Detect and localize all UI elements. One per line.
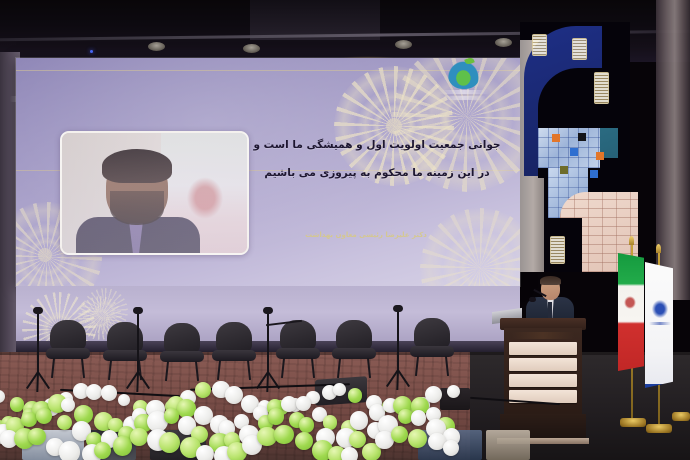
microphone-stand xyxy=(118,312,158,392)
flag-stand-base xyxy=(646,424,672,433)
organization-flag-text xyxy=(649,322,671,325)
ceiling-spotlight xyxy=(243,44,260,53)
podium-crest-text xyxy=(512,332,574,339)
microphone-stand xyxy=(378,310,418,390)
balloon xyxy=(443,440,459,456)
podium-panel xyxy=(509,374,577,387)
balloon xyxy=(268,408,285,425)
tile-accent-square xyxy=(596,152,604,160)
balloon xyxy=(295,432,313,450)
balloon xyxy=(177,399,196,418)
stage-curtain xyxy=(656,0,690,300)
balloon xyxy=(350,411,368,429)
presenter-hair xyxy=(540,276,561,285)
speaker-podium xyxy=(500,318,586,446)
balloon xyxy=(130,428,148,446)
flagpole-finial xyxy=(656,244,661,253)
balloon xyxy=(164,408,179,423)
arch-mosaic-tiles xyxy=(538,128,600,168)
balloon xyxy=(447,385,461,399)
tile-accent-square xyxy=(560,166,568,174)
balloon xyxy=(61,398,75,412)
arch-ornament-tile xyxy=(550,236,565,264)
mandala-core xyxy=(38,248,52,262)
flagpole-finial xyxy=(629,236,634,245)
organization-flag-emblem xyxy=(652,300,668,318)
slide-logo-line2 xyxy=(442,96,486,100)
arch-ornament-tile xyxy=(594,72,609,104)
floor-poster xyxy=(486,430,530,460)
microphone-stand xyxy=(248,312,288,392)
balloon xyxy=(333,383,346,396)
slide-logo-line1 xyxy=(439,90,489,94)
slide-headline-line1: جوانی جمعیت اولویت اول و همیشگی ما است و xyxy=(246,140,508,151)
speaker-portrait-photo xyxy=(60,131,249,255)
mandala-ornament xyxy=(420,208,520,286)
tile-accent-square xyxy=(570,148,578,156)
arch-ornament-tile xyxy=(572,38,587,60)
slide-logo-badge-icon xyxy=(448,60,480,89)
flag-stand-base xyxy=(672,412,690,421)
balloon xyxy=(59,441,80,460)
arch-ornament-tile xyxy=(532,34,547,56)
slide-headline-line2: در این زمینه ما محکوم به پیروزی می باشیم xyxy=(246,168,508,179)
presenter-tie xyxy=(548,302,552,318)
stage-chair xyxy=(160,323,204,379)
balloon xyxy=(348,388,362,402)
balloon xyxy=(57,415,72,430)
slide-attribution: دکتر علیرضا رئیسی معاون بهداشت xyxy=(266,231,466,239)
microphone-stand xyxy=(18,312,58,392)
balloon xyxy=(113,436,132,455)
ceiling-spotlight xyxy=(395,40,412,49)
iran-flag-emblem xyxy=(624,296,636,309)
portrait-projection-haze xyxy=(62,133,247,253)
organization-white-flag xyxy=(645,262,673,388)
balloon xyxy=(21,412,36,427)
tile-accent-square xyxy=(590,170,598,178)
tile-accent-square xyxy=(552,134,560,142)
flag-stand-base xyxy=(620,418,646,427)
ceiling-spotlight xyxy=(495,38,512,47)
balloon xyxy=(274,425,294,445)
balloon xyxy=(36,408,52,424)
conference-hall-photo: جوانی جمعیت اولویت اول و همیشگی ما است و… xyxy=(0,0,690,460)
indicator-light xyxy=(90,50,93,53)
stage-chair xyxy=(332,320,376,376)
balloon xyxy=(195,382,211,398)
balloon xyxy=(296,396,311,411)
tile-accent-square xyxy=(578,133,586,141)
balloon xyxy=(10,397,25,412)
balloon xyxy=(94,442,111,459)
podium-microphone-capsule xyxy=(529,297,536,302)
slide-organization-logo xyxy=(438,60,490,104)
iran-national-flag xyxy=(618,253,644,371)
balloon xyxy=(299,417,314,432)
podium-panel xyxy=(509,342,577,355)
ceiling-spotlight xyxy=(148,42,165,51)
balloon xyxy=(196,445,214,460)
slide-headline: جوانی جمعیت اولویت اول و همیشگی ما است و… xyxy=(246,140,508,179)
projection-screen: جوانی جمعیت اولویت اول و همیشگی ما است و… xyxy=(16,58,520,286)
podium-panel xyxy=(509,358,577,371)
balloon xyxy=(341,447,358,460)
